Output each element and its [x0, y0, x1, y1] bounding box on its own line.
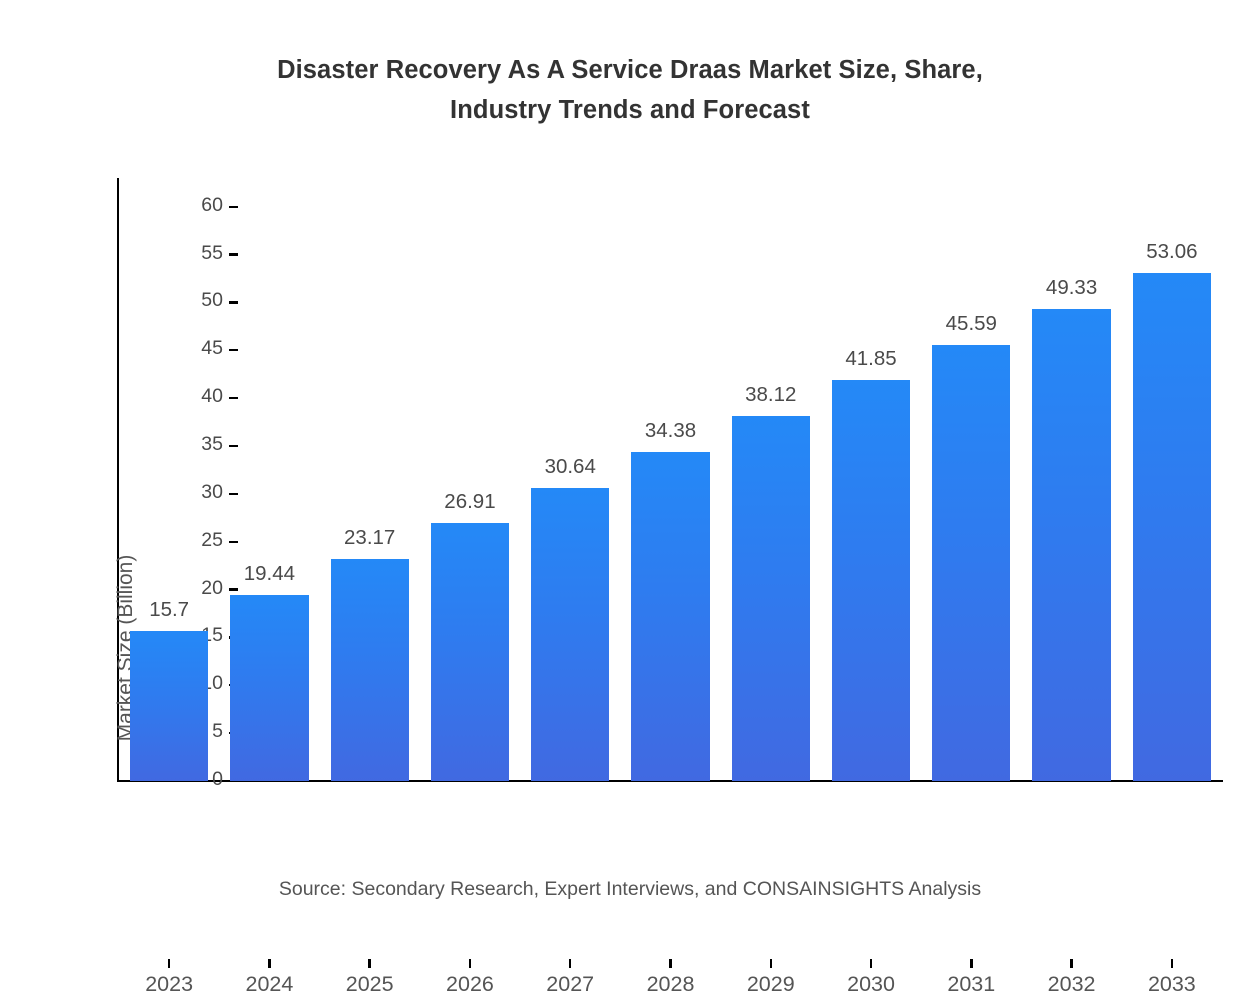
bar[interactable]	[1032, 309, 1110, 781]
bar[interactable]	[130, 631, 208, 781]
x-tick-mark	[469, 959, 471, 968]
source-note: Source: Secondary Research, Expert Inter…	[0, 878, 1260, 901]
y-tick-label: 25	[201, 529, 223, 552]
chart-title: Disaster Recovery As A Service Draas Mar…	[0, 50, 1260, 130]
bar-value-label: 30.64	[500, 455, 640, 479]
x-tick-mark	[268, 959, 270, 968]
bar-value-label: 34.38	[601, 419, 741, 443]
y-tick-mark	[229, 588, 238, 590]
y-tick-mark	[229, 206, 238, 208]
y-tick-mark	[229, 301, 238, 303]
y-tick-label: 50	[201, 289, 223, 312]
x-tick-mark	[368, 959, 370, 968]
x-tick-mark	[1171, 959, 1173, 968]
y-tick-mark	[229, 445, 238, 447]
bar[interactable]	[932, 345, 1010, 781]
y-tick-label: 30	[201, 481, 223, 504]
y-tick-label: 5	[212, 720, 223, 743]
y-tick-label: 45	[201, 337, 223, 360]
bar-value-label: 41.85	[801, 347, 941, 371]
bar[interactable]	[732, 416, 810, 781]
chart-title-line-2: Industry Trends and Forecast	[0, 90, 1260, 130]
x-tick-mark	[970, 959, 972, 968]
bar[interactable]	[331, 559, 409, 781]
y-tick-mark	[229, 253, 238, 255]
x-tick-mark	[168, 959, 170, 968]
x-tick-mark	[569, 959, 571, 968]
y-tick-label: 35	[201, 433, 223, 456]
bar-value-label: 49.33	[1002, 276, 1142, 300]
y-tick-mark	[229, 541, 238, 543]
y-tick-mark	[229, 349, 238, 351]
bar[interactable]	[1133, 273, 1211, 781]
x-tick-mark	[770, 959, 772, 968]
x-tick-label: 2033	[1112, 972, 1232, 997]
y-tick-mark	[229, 397, 238, 399]
y-tick-label: 0	[212, 768, 223, 791]
bar[interactable]	[431, 523, 509, 781]
x-tick-mark	[870, 959, 872, 968]
bar-value-label: 15.7	[99, 598, 239, 622]
bar[interactable]	[531, 488, 609, 781]
bar-value-label: 19.44	[199, 562, 339, 586]
plot-area: Market Size (Billion) 051015202530354045…	[119, 178, 1222, 781]
x-tick-mark	[669, 959, 671, 968]
bar-value-label: 45.59	[901, 312, 1041, 336]
bar-value-label: 38.12	[701, 383, 841, 407]
x-tick-mark	[1070, 959, 1072, 968]
bar-value-label: 53.06	[1102, 240, 1242, 264]
y-tick-label: 60	[201, 194, 223, 217]
bar-value-label: 26.91	[400, 490, 540, 514]
bar[interactable]	[631, 452, 709, 781]
chart-title-line-1: Disaster Recovery As A Service Draas Mar…	[277, 56, 983, 84]
y-tick-label: 40	[201, 385, 223, 408]
bar-value-label: 23.17	[300, 526, 440, 550]
y-tick-label: 55	[201, 242, 223, 265]
chart-figure: Disaster Recovery As A Service Draas Mar…	[0, 0, 1260, 920]
bar[interactable]	[832, 380, 910, 781]
y-tick-mark	[229, 493, 238, 495]
bar[interactable]	[230, 595, 308, 781]
